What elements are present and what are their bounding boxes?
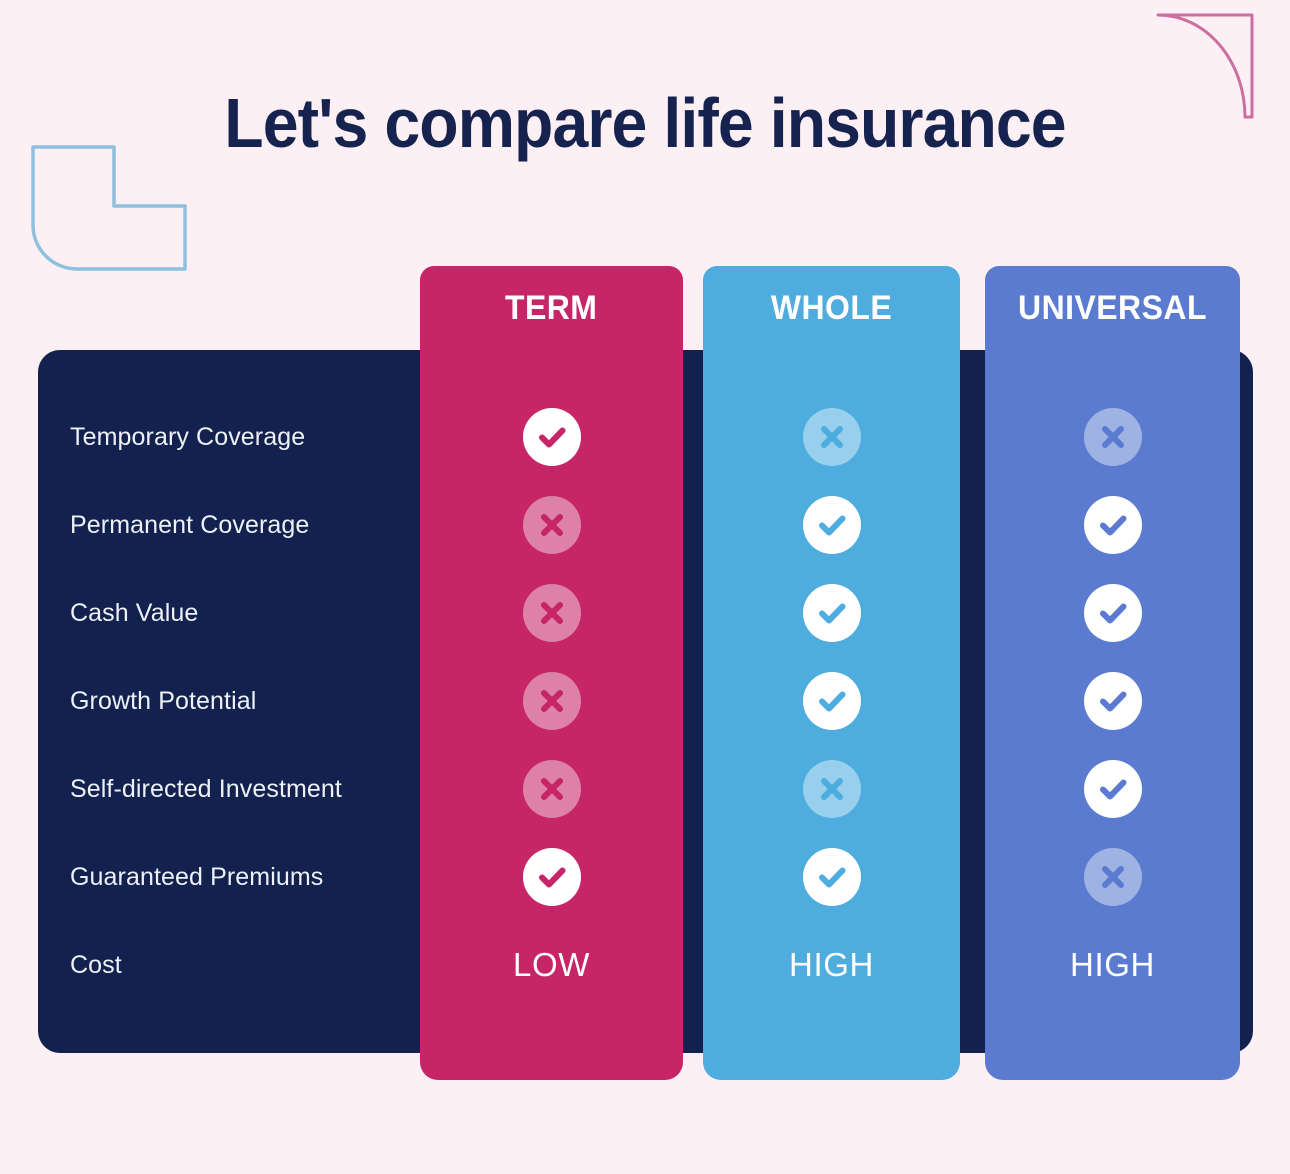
cell-whole-5 xyxy=(703,845,960,909)
column-universal[interactable]: UNIVERSAL HIGH xyxy=(985,266,1240,1080)
feature-label-column: Temporary Coverage Permanent Coverage Ca… xyxy=(70,350,420,1053)
column-header-label: WHOLE xyxy=(771,289,892,328)
cell-term-5 xyxy=(420,845,683,909)
check-icon xyxy=(803,848,861,906)
cost-value-whole: HIGH xyxy=(789,946,874,984)
check-icon xyxy=(523,408,581,466)
cell-universal-2 xyxy=(985,581,1240,645)
cell-whole-cost: HIGH xyxy=(703,933,960,997)
check-icon xyxy=(803,584,861,642)
cell-term-cost: LOW xyxy=(420,933,683,997)
cell-term-4 xyxy=(420,757,683,821)
cell-whole-4 xyxy=(703,757,960,821)
feature-label: Cost xyxy=(70,948,420,982)
cross-icon xyxy=(803,408,861,466)
feature-label: Growth Potential xyxy=(70,684,420,718)
cell-whole-3 xyxy=(703,669,960,733)
column-header-label: UNIVERSAL xyxy=(1018,289,1207,328)
cell-universal-0 xyxy=(985,405,1240,469)
check-icon xyxy=(803,672,861,730)
cross-icon xyxy=(523,496,581,554)
decorative-l-shape xyxy=(30,144,188,272)
check-icon xyxy=(1084,672,1142,730)
feature-label: Cash Value xyxy=(70,596,420,630)
cell-universal-1 xyxy=(985,493,1240,557)
cost-value-universal: HIGH xyxy=(1070,946,1155,984)
column-header-term: TERM xyxy=(420,266,683,350)
cross-icon xyxy=(1084,848,1142,906)
page-title: Let's compare life insurance xyxy=(52,88,1239,158)
cell-whole-2 xyxy=(703,581,960,645)
cell-term-2 xyxy=(420,581,683,645)
check-icon xyxy=(1084,584,1142,642)
cross-icon xyxy=(1084,408,1142,466)
cell-whole-0 xyxy=(703,405,960,469)
check-icon xyxy=(1084,760,1142,818)
check-icon xyxy=(1084,496,1142,554)
cell-universal-4 xyxy=(985,757,1240,821)
feature-label: Temporary Coverage xyxy=(70,420,420,454)
cell-term-0 xyxy=(420,405,683,469)
cross-icon xyxy=(523,760,581,818)
column-term[interactable]: TERM LOW xyxy=(420,266,683,1080)
cell-term-3 xyxy=(420,669,683,733)
check-icon xyxy=(803,496,861,554)
cell-universal-3 xyxy=(985,669,1240,733)
cell-universal-5 xyxy=(985,845,1240,909)
feature-label: Permanent Coverage xyxy=(70,508,420,542)
cell-universal-cost: HIGH xyxy=(985,933,1240,997)
cross-icon xyxy=(803,760,861,818)
column-header-universal: UNIVERSAL xyxy=(985,266,1240,350)
feature-label: Self-directed Investment xyxy=(70,772,420,806)
cell-whole-1 xyxy=(703,493,960,557)
cost-value-term: LOW xyxy=(513,946,590,984)
cell-term-1 xyxy=(420,493,683,557)
column-header-label: TERM xyxy=(505,289,597,328)
check-icon xyxy=(523,848,581,906)
column-header-whole: WHOLE xyxy=(703,266,960,350)
cross-icon xyxy=(523,584,581,642)
cross-icon xyxy=(523,672,581,730)
column-whole[interactable]: WHOLE HIGH xyxy=(703,266,960,1080)
feature-label: Guaranteed Premiums xyxy=(70,860,420,894)
